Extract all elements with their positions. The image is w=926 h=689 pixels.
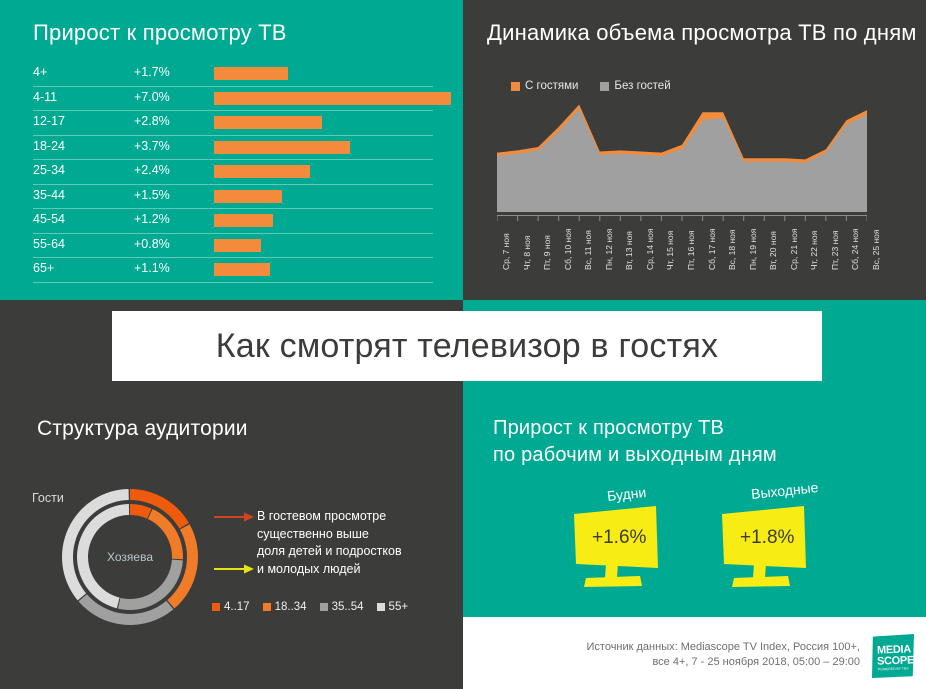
legend-swatch: [600, 82, 609, 91]
bar-fill: [214, 214, 273, 227]
legend-swatch: [511, 82, 520, 91]
donut-legend-item: 55+: [377, 601, 409, 613]
donut-legend-item: 4..17: [212, 601, 250, 613]
bar-value-label: +3.7%: [134, 139, 170, 153]
bar-row: 25-34+2.4%: [33, 160, 433, 185]
source-line-2: все 4+, 7 - 25 ноября 2018, 05:00 – 29:0…: [560, 655, 860, 670]
arrow-red-icon: [214, 512, 254, 522]
bottom-right-heading-line1: Прирост к просмотру ТВ: [493, 417, 724, 440]
donut-legend-item: 18..34: [263, 601, 307, 613]
bar-category-label: 18-24: [33, 139, 65, 153]
axis-tick-label: Сб, 17 ноя: [707, 228, 717, 270]
annotation-line-4: и молодых людей: [257, 561, 457, 579]
area-chart-legend: С гостямиБез гостей: [511, 80, 671, 92]
donut-legend-swatch: [212, 603, 220, 611]
annotation-line-1: В гостевом просмотре: [257, 508, 457, 526]
legend-item: С гостями: [511, 80, 578, 92]
main-title-banner: Как смотрят телевизор в гостях: [112, 311, 822, 381]
axis-tick-label: Ср, 7 ноя: [501, 233, 511, 270]
axis-tick-label: Чт, 15 ноя: [665, 231, 675, 270]
donut-legend-label: 4..17: [224, 601, 250, 613]
axis-tick-label: Вт, 20 ноя: [768, 231, 778, 270]
bar-fill: [214, 67, 288, 80]
bar-row: 4++1.7%: [33, 62, 433, 87]
donut-legend-swatch: [320, 603, 328, 611]
bar-row: 35-44+1.5%: [33, 185, 433, 210]
bar-row: 65++1.1%: [33, 258, 433, 283]
axis-tick-label: Чт, 8 ноя: [522, 236, 532, 270]
bar-category-label: 12-17: [33, 114, 65, 128]
bar-category-label: 25-34: [33, 163, 65, 177]
bar-row: 12-17+2.8%: [33, 111, 433, 136]
inner-ring-label: Хозяева: [60, 487, 200, 627]
bar-value-label: +1.7%: [134, 65, 170, 79]
infographic-canvas: Прирост к просмотру ТВ 4++1.7%4-11+7.0%1…: [0, 0, 926, 689]
bar-category-label: 45-54: [33, 212, 65, 226]
bottom-left-heading: Структура аудитории: [37, 417, 248, 441]
axis-tick-label: Вс, 25 ноя: [871, 230, 881, 270]
bar-row: 55-64+0.8%: [33, 234, 433, 259]
bottom-right-heading-line2: по рабочим и выходным дням: [493, 444, 777, 467]
bar-value-label: +1.2%: [134, 212, 170, 226]
page-title: Как смотрят телевизор в гостях: [216, 327, 718, 366]
area-series-without-guests: [497, 109, 867, 212]
bar-category-label: 55-64: [33, 237, 65, 251]
tv-weekends-value: +1.8%: [740, 527, 794, 549]
bar-row: 4-11+7.0%: [33, 87, 433, 112]
axis-tick-label: Вс, 18 ноя: [727, 230, 737, 270]
bar-category-label: 65+: [33, 261, 54, 275]
bar-fill: [214, 116, 322, 129]
bar-category-label: 35-44: [33, 188, 65, 202]
donut-legend-label: 55+: [389, 601, 409, 613]
bar-value-label: +2.8%: [134, 114, 170, 128]
bar-fill: [214, 263, 270, 276]
legend-label: Без гостей: [614, 80, 670, 92]
top-right-heading: Динамика объема просмотра ТВ по дням: [487, 20, 917, 46]
bar-category-label: 4+: [33, 65, 47, 79]
axis-tick-label: Вт, 13 ноя: [624, 231, 634, 270]
axis-tick-label: Сб, 24 ноя: [850, 228, 860, 270]
tv-weekends: Выходные +1.8%: [718, 490, 838, 605]
top-left-heading: Прирост к просмотру ТВ: [33, 20, 287, 46]
bar-row: 45-54+1.2%: [33, 209, 433, 234]
bar-category-label: 4-11: [33, 90, 57, 104]
donut-legend-swatch: [377, 603, 385, 611]
axis-tick-label: Сб, 10 ноя: [563, 228, 573, 270]
axis-tick-label: Пт, 9 ноя: [542, 235, 552, 270]
source-line-1: Источник данных: Mediascope TV Index, Ро…: [560, 640, 860, 655]
bar-value-label: +7.0%: [134, 90, 170, 104]
annotation-line-2: существенно выше: [257, 526, 457, 544]
donut-legend-label: 35..54: [332, 601, 364, 613]
bar-value-label: +1.5%: [134, 188, 170, 202]
bar-fill: [214, 239, 261, 252]
axis-tick-label: Ср, 21 ноя: [789, 229, 799, 270]
bar-fill: [214, 190, 282, 203]
area-chart-svg: [497, 100, 867, 212]
donut-legend-label: 18..34: [275, 601, 307, 613]
tv-weekdays: Будни +1.6%: [570, 490, 690, 605]
bar-row: 18-24+3.7%: [33, 136, 433, 161]
bar-value-label: +2.4%: [134, 163, 170, 177]
bar-fill: [214, 141, 350, 154]
axis-tick-label: Пн, 19 ноя: [748, 229, 758, 270]
donut-legend-item: 35..54: [320, 601, 364, 613]
axis-tick-label: Пт, 23 ноя: [830, 230, 840, 270]
source-note: Источник данных: Mediascope TV Index, Ро…: [560, 640, 860, 670]
axis-tick-label: Пт, 16 ноя: [686, 230, 696, 270]
bar-fill: [214, 92, 451, 105]
axis-tick-label: Ср, 14 ноя: [645, 229, 655, 270]
bar-value-label: +0.8%: [134, 237, 170, 251]
legend-item: Без гостей: [600, 80, 670, 92]
donut-legend-swatch: [263, 603, 271, 611]
daily-tv-area-chart: [497, 100, 867, 212]
axis-tick-label: Вс, 11 ноя: [583, 230, 593, 270]
axis-tick-label: Чт, 22 ноя: [809, 231, 819, 270]
axis-tick-label: Пн, 12 ноя: [604, 229, 614, 270]
donut-legend: 4..1718..3435..5455+: [212, 601, 408, 613]
arrow-yellow-icon: [214, 564, 254, 574]
donut-annotation: В гостевом просмотре существенно выше до…: [257, 508, 457, 578]
bar-fill: [214, 165, 310, 178]
mediascope-logo: MEDIA SCOPE POWERED BY TNS: [872, 634, 914, 678]
age-growth-bar-chart: 4++1.7%4-11+7.0%12-17+2.8%18-24+3.7%25-3…: [33, 62, 433, 283]
legend-label: С гостями: [525, 80, 578, 92]
annotation-line-3: доля детей и подростков: [257, 543, 457, 561]
bar-value-label: +1.1%: [134, 261, 170, 275]
tv-weekdays-value: +1.6%: [592, 527, 646, 549]
area-chart-tick-labels: Ср, 7 нояЧт, 8 нояПт, 9 нояСб, 10 нояВс,…: [497, 212, 867, 274]
